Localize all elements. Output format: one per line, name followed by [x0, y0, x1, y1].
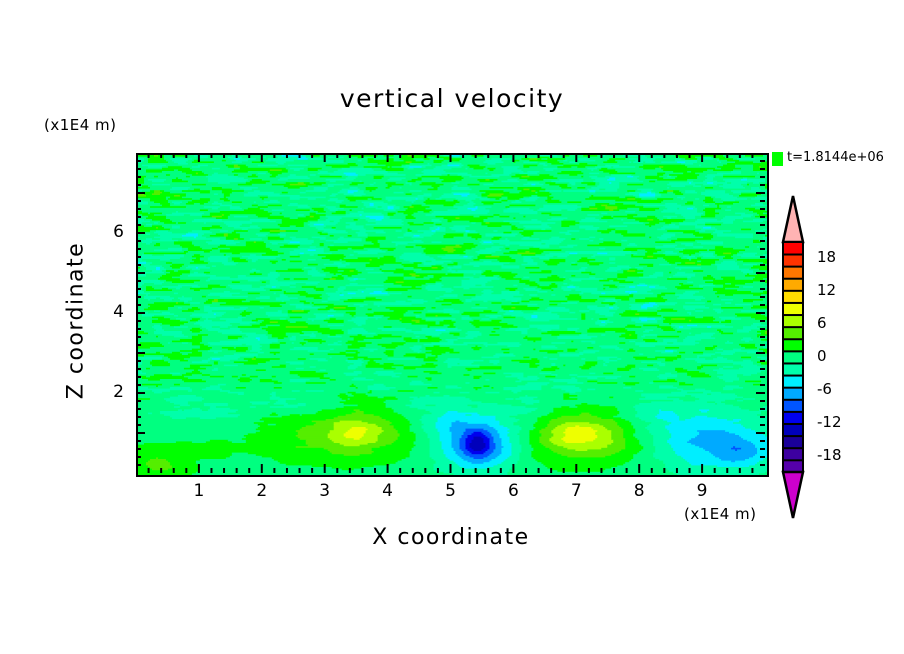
colorbar-tick-label: 12: [817, 281, 836, 299]
colorbar-tick-label: -6: [817, 380, 832, 398]
colorbar-tick-label: 6: [817, 314, 827, 332]
colorbar-tick-label: 18: [817, 248, 836, 266]
colorbar-tick-label: -12: [817, 413, 842, 431]
contour-plot-figure: vertical velocity (x1E4 m) (x1E4 m) X co…: [0, 0, 904, 654]
colorbar-tick-label: 0: [817, 347, 827, 365]
colorbar-tick-label: -18: [817, 446, 842, 464]
